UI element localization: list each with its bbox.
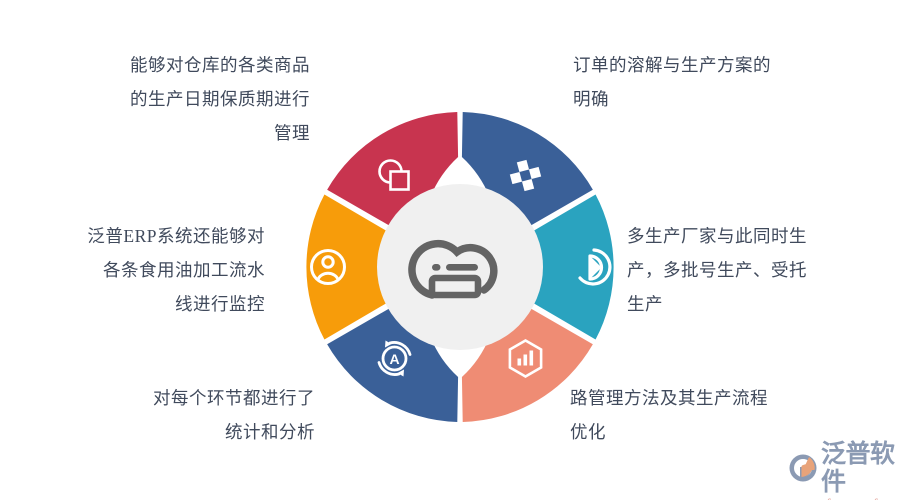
cloud-database-icon xyxy=(408,221,512,313)
svg-text:A: A xyxy=(389,351,399,367)
label-process-optimize: 路管理方法及其生产流程 优化 xyxy=(570,381,830,449)
brand-url: www.fanpusoft.com xyxy=(792,496,912,500)
label-shelf-life: 能够对仓库的各类商品 的生产日期保质期进行 管理 xyxy=(60,48,310,150)
label-line-monitoring: 泛普ERP系统还能够对 各条食用油加工流水 线进行监控 xyxy=(30,219,265,321)
brand-lockup: 泛普软件 xyxy=(788,440,916,496)
label-statistics-analysis: 对每个环节都进行了 统计和分析 xyxy=(75,381,315,449)
brand-watermark: 泛普软件 www.fanpusoft.com xyxy=(788,440,916,496)
brand-name: 泛普软件 xyxy=(821,440,916,496)
center-hub xyxy=(377,184,543,350)
label-order-dissolution: 订单的溶解与生产方案的 明确 xyxy=(573,48,833,116)
fanpu-circle-logo-icon xyxy=(788,453,818,483)
diagram-canvas: A 能够对仓库的各类商品 的生产日期保质期进行 管理 泛普ERP系统还能够对 xyxy=(0,0,920,500)
label-multi-factory: 多生产厂家与此同时生 产，多批号生产、受托 生产 xyxy=(627,219,842,321)
